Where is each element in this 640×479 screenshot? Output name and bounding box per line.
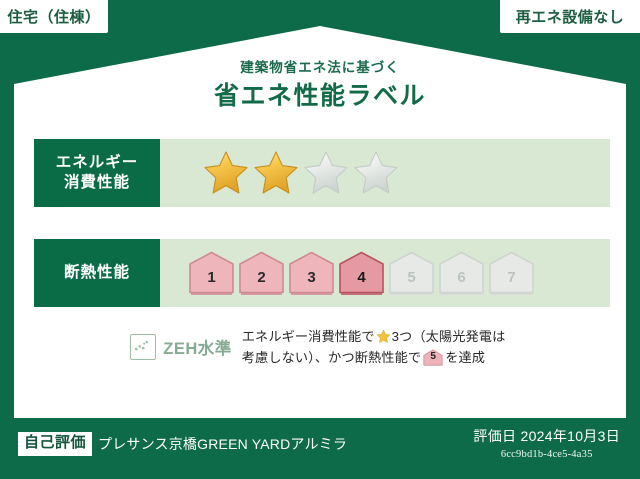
- insulation-level-badge-6: 6: [438, 250, 485, 296]
- renewable-equipment-tag: 再エネ設備なし: [500, 0, 640, 33]
- insulation-level-number: 4: [357, 270, 365, 296]
- inline-house-badge: 5: [423, 349, 443, 366]
- insulation-level-badge-1: 1: [188, 250, 235, 296]
- housing-type-tag: 住宅（住棟）: [0, 0, 108, 33]
- star-empty-icon: [352, 149, 400, 197]
- footer: 自己評価 プレサンス京橋GREEN YARDアルミラ 評価日 2024年10月3…: [0, 418, 640, 479]
- insulation-level-badge-4: 4: [338, 250, 385, 296]
- insulation-level-number: 2: [257, 270, 265, 296]
- insulation-level-number: 3: [307, 270, 315, 296]
- insulation-level-badge-5: 5: [388, 250, 435, 296]
- zeh-note-part1: エネルギー消費性能で: [242, 329, 375, 344]
- insulation-level-scale: 1234567: [188, 250, 535, 296]
- zeh-badge: ZEH水準: [126, 334, 232, 360]
- zeh-note-text: エネルギー消費性能で3つ（太陽光発電は考慮しない）、かつ断熱性能で5を達成: [242, 326, 514, 369]
- label-panel: 建築物省エネ法に基づく 省エネ性能ラベル エネルギー 消費性能 断熱性能: [14, 26, 626, 418]
- insulation-level-badge-7: 7: [488, 250, 535, 296]
- energy-performance-row-body: [160, 139, 610, 207]
- insulation-level-number: 5: [407, 270, 415, 296]
- page-title-text: 省エネ性能ラベル: [14, 81, 626, 111]
- renewable-equipment-tag-label: 再エネ設備なし: [516, 6, 625, 27]
- property-name: プレサンス京橋GREEN YARDアルミラ: [98, 434, 347, 454]
- star-icon: [376, 329, 391, 344]
- zeh-note-part3: を達成: [445, 350, 485, 365]
- insulation-level-badge-2: 2: [238, 250, 285, 296]
- inline-house-badge-level: 5: [423, 349, 443, 365]
- document-id: 6cc9bd1b-4ce5-4a35: [473, 449, 620, 460]
- zeh-note: ZEH水準 エネルギー消費性能で3つ（太陽光発電は考慮しない）、かつ断熱性能で5…: [14, 326, 626, 369]
- star-filled-icon: [202, 149, 250, 197]
- footer-right: 評価日 2024年10月3日 6cc9bd1b-4ce5-4a35: [473, 426, 620, 460]
- energy-label-line2: 消費性能: [64, 173, 130, 193]
- evaluation-date: 評価日 2024年10月3日: [473, 426, 620, 446]
- insulation-level-badge-3: 3: [288, 250, 335, 296]
- insulation-performance-row-body: 1234567: [160, 239, 610, 307]
- zeh-badge-label: ZEH水準: [163, 335, 232, 359]
- insulation-level-number: 6: [457, 270, 465, 296]
- page-subtitle-text: 建築物省エネ法に基づく: [14, 60, 626, 76]
- energy-performance-label: 住宅（住棟） 再エネ設備なし 建築物省エネ法に基づく 省エネ性能ラベル エネルギ…: [0, 0, 640, 479]
- energy-label-line1: エネルギー: [56, 153, 139, 173]
- insulation-level-number: 7: [507, 270, 515, 296]
- energy-performance-row: エネルギー 消費性能: [34, 139, 610, 207]
- housing-type-tag-label: 住宅（住棟）: [7, 6, 100, 27]
- star-filled-icon: [252, 149, 300, 197]
- insulation-performance-row-label: 断熱性能: [34, 239, 160, 307]
- star-empty-icon: [302, 149, 350, 197]
- page-title: 建築物省エネ法に基づく 省エネ性能ラベル: [14, 60, 626, 111]
- energy-performance-row-label: エネルギー 消費性能: [34, 139, 160, 207]
- footer-left: 自己評価 プレサンス京橋GREEN YARDアルミラ: [18, 432, 347, 456]
- star-rating: [202, 149, 400, 197]
- chart-dots-icon: [130, 334, 156, 360]
- insulation-label-line1: 断熱性能: [64, 263, 130, 283]
- self-evaluation-badge: 自己評価: [18, 432, 92, 456]
- insulation-level-number: 1: [207, 270, 215, 296]
- insulation-performance-row: 断熱性能 1234567: [34, 239, 610, 307]
